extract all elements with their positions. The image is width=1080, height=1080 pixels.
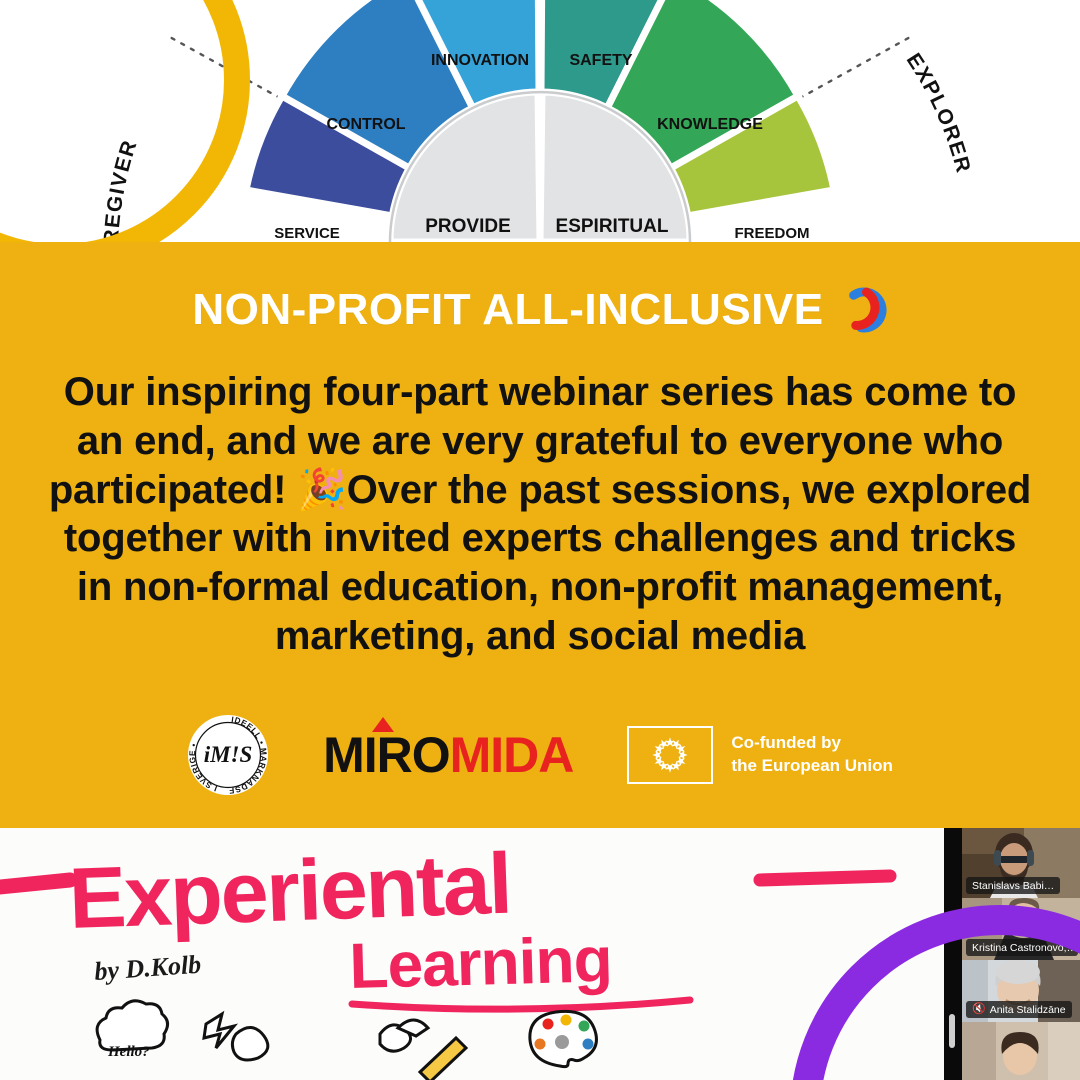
body-line: together with invited experts challenges… — [40, 514, 1040, 563]
body-line: Our inspiring four-part webinar series h… — [40, 368, 1040, 417]
partner-logo-strip: IDEELL • MARKNADSFÖRING I SVERIGE • iM!S… — [0, 714, 1080, 796]
needs-wheel-diagram: SERVICE CONTROL INNOVATION SAFETY KNOWLE… — [0, 0, 1080, 242]
participant-name: Kristina Castronovo,… — [966, 939, 1078, 956]
participant-name-text: Kristina Castronovo,… — [972, 942, 1077, 954]
brand-ring-icon — [840, 286, 888, 334]
participant-tile[interactable]: Kristina Castronovo,… — [962, 898, 1080, 960]
zoom-participant-rail[interactable]: Stanislavs Babi… Kristina Castronovo,… — [944, 828, 1080, 1080]
participant-name: 🔇 Anita Stalidzāne — [966, 1001, 1072, 1018]
wheel-label-espiritual: ESPIRITUAL — [556, 216, 669, 237]
participant-tile[interactable] — [962, 1022, 1080, 1080]
imis-logo: IDEELL • MARKNADSFÖRING I SVERIGE • iM!S — [187, 714, 269, 796]
participant-tile[interactable]: Stanislavs Babi… — [962, 828, 1080, 898]
participant-name: Stanislavs Babi… — [966, 877, 1060, 894]
eu-line-2: the European Union — [731, 755, 893, 778]
wheel-label-innovation: INNOVATION — [431, 52, 529, 69]
rail-scrollbar[interactable] — [949, 1014, 955, 1048]
wheel-label-control: CONTROL — [326, 116, 405, 133]
wheel-label-freedom: FREEDOM — [735, 225, 810, 242]
body-line: an end, and we are very grateful to ever… — [40, 417, 1040, 466]
miromida-red-part: MIDA — [450, 727, 574, 783]
eu-flag-icon — [627, 726, 713, 784]
wheel-label-service: SERVICE — [274, 225, 340, 242]
imis-center-text: iM!S — [204, 742, 253, 767]
participant-name-text: Anita Stalidzāne — [990, 1004, 1066, 1016]
miromida-logo: MIROMIDA — [323, 730, 573, 780]
whiteboard-subtitle: Learning — [348, 923, 612, 1002]
participant-tile[interactable]: 🔇 Anita Stalidzāne — [962, 960, 1080, 1022]
participant-name-text: Stanislavs Babi… — [972, 880, 1054, 892]
social-media-post: SERVICE CONTROL INNOVATION SAFETY KNOWLE… — [0, 0, 1080, 1080]
page-title: NON-PROFIT ALL-INCLUSIVE — [192, 288, 823, 332]
wheel-label-provide: PROVIDE — [425, 216, 511, 237]
bottom-screenshare-section: Experiental Learning by D.Kolb Hello? — [0, 828, 1080, 1080]
body-line: marketing, and social media — [40, 612, 1040, 661]
mic-muted-icon: 🔇 — [972, 1004, 986, 1015]
svg-text:Hello?: Hello? — [107, 1044, 150, 1060]
headline-row: NON-PROFIT ALL-INCLUSIVE — [192, 286, 887, 334]
eu-cofunded-text: Co-funded by the European Union — [731, 732, 893, 778]
eu-cofunded-logo: Co-funded by the European Union — [627, 726, 893, 784]
wheel-label-knowledge: KNOWLEDGE — [657, 116, 763, 133]
body-copy: Our inspiring four-part webinar series h… — [40, 368, 1040, 661]
body-line: in non-formal education, non-profit mana… — [40, 563, 1040, 612]
experiential-learning-whiteboard: Experiental Learning by D.Kolb Hello? — [0, 828, 944, 1080]
miromida-dark-part: MIRO — [323, 727, 450, 783]
eu-line-1: Co-funded by — [731, 732, 893, 755]
wheel-label-safety: SAFETY — [569, 52, 632, 69]
body-line: participated! 🎉Over the past sessions, w… — [40, 466, 1040, 515]
yellow-content-banner: NON-PROFIT ALL-INCLUSIVE Our inspiring f… — [0, 242, 1080, 828]
miromida-caret-icon — [372, 717, 394, 732]
whiteboard-svg: Experiental Learning by D.Kolb Hello? — [0, 828, 944, 1080]
